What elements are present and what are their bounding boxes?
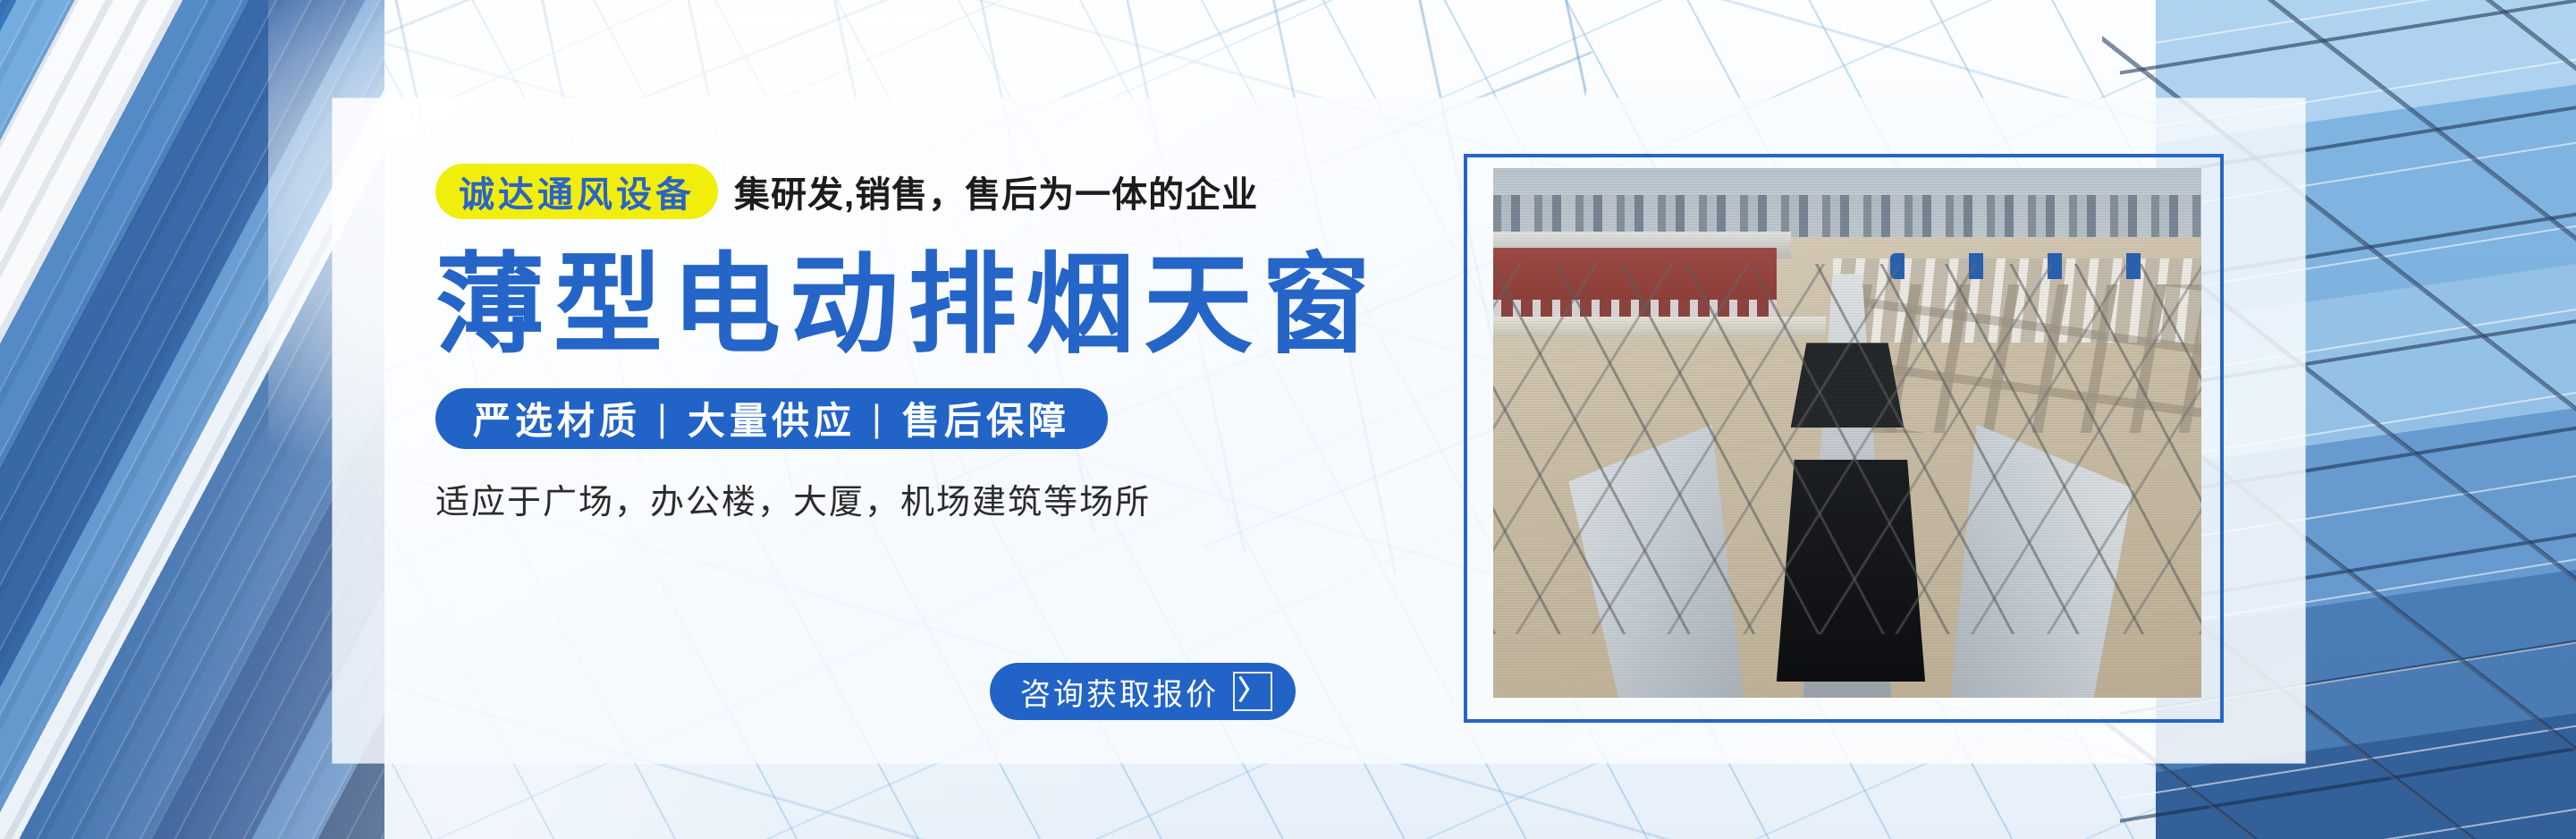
photo-grain-overlay <box>1493 168 2201 698</box>
product-photo-rooftop-skylight <box>1493 168 2201 698</box>
feature-separator-2: | <box>856 397 902 440</box>
cta-quote-button[interactable]: 咨询获取报价 〉 <box>990 663 1296 720</box>
tagline-text: 集研发,销售，售后为一体的企业 <box>734 165 1258 217</box>
feature-item-3: 售后保障 <box>902 391 1070 445</box>
content-column: 诚达通风设备 集研发,销售，售后为一体的企业 薄型电动排烟天窗 严选材质 | 大… <box>435 157 1383 523</box>
feature-item-2: 大量供应 <box>688 391 856 445</box>
chevron-right-icon: 〉 <box>1233 672 1272 711</box>
feature-item-1: 严选材质 <box>473 391 641 445</box>
brand-name-pill: 诚达通风设备 <box>435 164 718 219</box>
tagline-row: 诚达通风设备 集研发,销售，售后为一体的企业 <box>435 157 1383 225</box>
headline: 薄型电动排烟天窗 <box>435 247 1383 365</box>
promo-banner: 诚达通风设备 集研发,销售，售后为一体的企业 薄型电动排烟天窗 严选材质 | 大… <box>0 0 2576 839</box>
background-left-glass-building <box>0 0 384 839</box>
feature-separator-1: | <box>641 397 688 440</box>
subline-application-scenarios: 适应于广场，办公楼，大厦，机场建筑等场所 <box>435 474 1383 523</box>
cta-label: 咨询获取报价 <box>1020 670 1219 714</box>
feature-pill: 严选材质 | 大量供应 | 售后保障 <box>435 388 1108 449</box>
